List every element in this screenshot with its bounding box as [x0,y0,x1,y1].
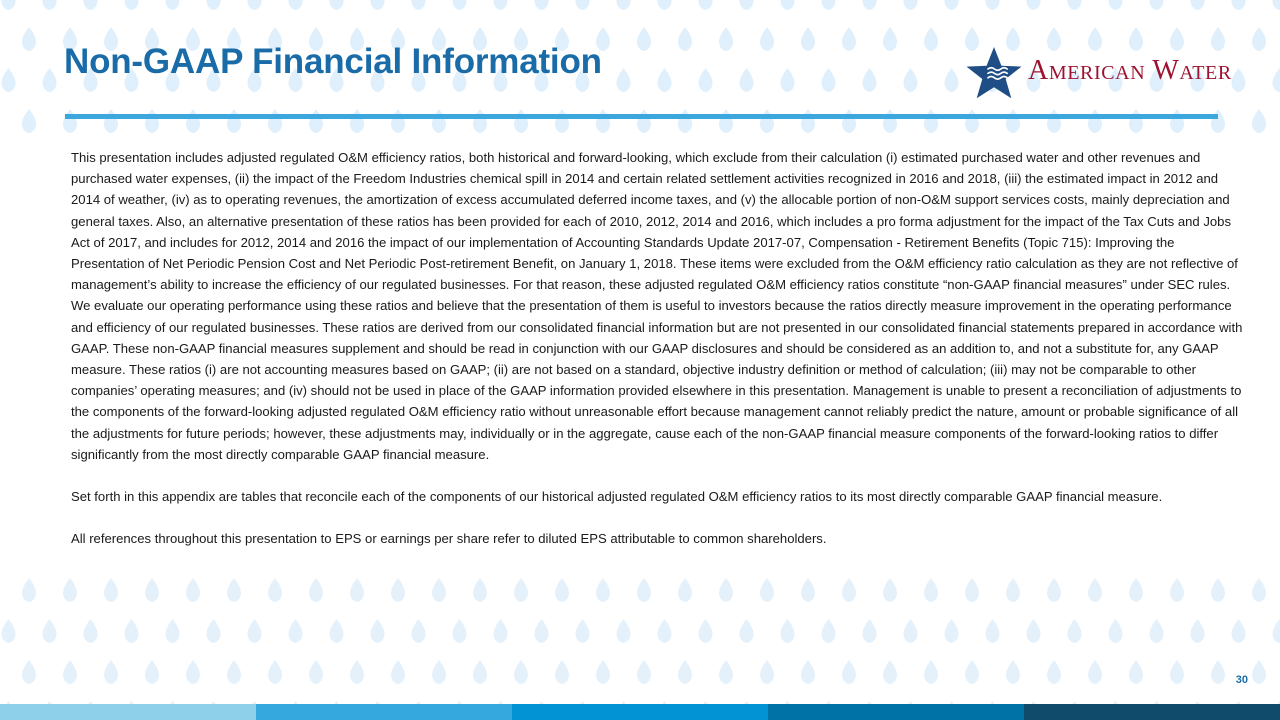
water-drop-icon [1046,660,1063,684]
water-drop-icon [1005,578,1022,602]
page-number: 30 [1236,674,1248,686]
water-drop-icon [615,68,632,92]
water-drop-icon [267,578,284,602]
footer-color-bar [0,704,1280,720]
water-drop-icon [123,619,140,643]
water-drop-icon [82,619,99,643]
water-drop-icon [943,0,960,10]
water-drop-icon [1271,68,1280,92]
water-drop-icon [1107,0,1124,10]
water-drop-icon [759,578,776,602]
water-drop-icon [1066,619,1083,643]
body-content: This presentation includes adjusted regu… [71,147,1244,549]
water-drop-icon [800,109,817,133]
water-drop-icon [472,578,489,602]
water-drop-icon [861,619,878,643]
water-drop-icon [697,619,714,643]
water-drop-icon [902,0,919,10]
water-drop-icon [882,109,899,133]
logo-wordmark: American Water [1028,55,1232,87]
water-drop-icon [841,660,858,684]
water-drop-icon [205,619,222,643]
water-drop-icon [1271,619,1280,643]
water-drop-icon [1025,0,1042,10]
water-drop-icon [697,68,714,92]
water-drop-icon [103,578,120,602]
water-drop-icon [656,68,673,92]
water-drop-icon [1169,109,1186,133]
water-drop-icon [861,68,878,92]
water-drop-icon [205,0,222,10]
water-drop-icon [328,0,345,10]
water-drop-icon [800,578,817,602]
water-drop-icon [554,109,571,133]
water-drop-icon [738,0,755,10]
water-drop-icon [595,109,612,133]
water-drop-icon [718,578,735,602]
water-drop-icon [144,660,161,684]
water-drop-icon [82,0,99,10]
water-drop-icon [1128,578,1145,602]
water-drop-icon [185,109,202,133]
water-drop-icon [103,109,120,133]
water-drop-icon [595,660,612,684]
water-drop-icon [636,109,653,133]
water-drop-icon [1107,619,1124,643]
water-drop-icon [390,660,407,684]
footer-bar-segment-5 [1024,704,1280,720]
water-drop-icon [164,619,181,643]
water-drop-icon [738,619,755,643]
water-drop-icon [1271,0,1280,10]
water-drop-icon [677,660,694,684]
water-drop-icon [1189,0,1206,10]
water-drop-icon [636,660,653,684]
water-drop-icon [984,619,1001,643]
water-drop-icon [964,578,981,602]
water-drop-icon [1025,619,1042,643]
water-drop-icon [574,619,591,643]
water-drop-icon [390,109,407,133]
water-drop-icon [1210,109,1227,133]
water-drop-icon [513,109,530,133]
paragraph-appendix: Set forth in this appendix are tables th… [71,486,1244,507]
water-drop-icon [246,0,263,10]
water-drop-icon [1087,660,1104,684]
water-drop-icon [349,660,366,684]
water-drop-icon [1169,660,1186,684]
water-drop-icon [656,0,673,10]
water-drop-icon [21,109,38,133]
water-drop-icon [1005,109,1022,133]
water-drop-icon [0,619,17,643]
water-drop-icon [882,660,899,684]
footer-bar-segment-1 [0,704,256,720]
water-drop-icon [1251,660,1268,684]
water-drop-icon [103,660,120,684]
water-drop-icon [226,578,243,602]
water-drop-icon [492,619,509,643]
water-drop-icon [1046,578,1063,602]
water-drop-icon [0,0,17,10]
water-drop-icon [62,660,79,684]
water-drop-icon [1148,619,1165,643]
water-drop-icon [964,660,981,684]
water-drop-icon [513,578,530,602]
water-drop-icon [472,109,489,133]
water-drop-icon [943,619,960,643]
paragraph-spacer [71,507,1244,528]
water-drop-icon [390,578,407,602]
water-drop-icon [308,109,325,133]
water-drop-icon [451,0,468,10]
water-drop-icon [902,68,919,92]
water-drop-icon [923,27,940,51]
water-drop-icon [779,619,796,643]
water-drop-icon [1087,109,1104,133]
water-drop-icon [533,0,550,10]
paragraph-disclosure: This presentation includes adjusted regu… [71,147,1244,465]
water-drop-icon [349,109,366,133]
water-drop-icon [574,0,591,10]
water-drop-icon [1230,0,1247,10]
water-drop-icon [882,578,899,602]
water-drop-icon [431,578,448,602]
water-drop-icon [1066,0,1083,10]
water-drop-icon [369,619,386,643]
water-drop-icon [164,0,181,10]
water-drop-icon [984,0,1001,10]
water-drop-icon [718,109,735,133]
water-drop-icon [554,578,571,602]
water-drop-icon [246,619,263,643]
water-drop-icon [410,0,427,10]
water-drop-icon [1210,660,1227,684]
water-drop-icon [554,660,571,684]
water-drop-icon [62,109,79,133]
water-drop-icon [759,660,776,684]
water-drop-icon [533,619,550,643]
water-drop-icon [779,0,796,10]
water-drop-icon [923,578,940,602]
water-drop-icon [513,660,530,684]
water-drop-icon [800,27,817,51]
water-drop-icon [21,578,38,602]
water-drop-icon [923,109,940,133]
water-drop-icon [759,27,776,51]
water-drop-icon [1230,68,1247,92]
water-drop-icon [861,0,878,10]
water-drop-icon [41,619,58,643]
water-drop-icon [1251,27,1268,51]
water-drop-icon [841,109,858,133]
water-drop-icon [1210,578,1227,602]
water-drop-icon [21,27,38,51]
water-drop-icon [820,0,837,10]
water-drop-icon [472,660,489,684]
water-drop-icon [615,619,632,643]
water-drop-icon [1230,619,1247,643]
page-title: Non-GAAP Financial Information [64,42,602,82]
water-drop-icon [226,109,243,133]
water-drop-icon [308,660,325,684]
water-drop-icon [656,619,673,643]
water-drop-icon [0,68,17,92]
water-drop-icon [308,578,325,602]
water-drop-icon [144,578,161,602]
water-drop-icon [369,0,386,10]
water-drop-icon [431,109,448,133]
water-drop-icon [267,660,284,684]
water-drop-icon [267,109,284,133]
water-drop-icon [820,68,837,92]
water-drop-icon [1005,660,1022,684]
water-drop-icon [902,619,919,643]
footer-bar-segment-2 [256,704,512,720]
water-drop-icon [21,660,38,684]
water-drop-icon [1189,619,1206,643]
water-drop-icon [492,0,509,10]
water-drop-icon [1148,0,1165,10]
water-drop-icon [185,578,202,602]
water-drop-icon [636,578,653,602]
water-drop-icon [1169,578,1186,602]
water-drop-icon [1046,109,1063,133]
water-drop-icon [1128,109,1145,133]
water-drop-icon [410,619,427,643]
title-divider-rule [65,114,1218,119]
paragraph-spacer [71,465,1244,486]
water-drop-icon [287,619,304,643]
water-drop-icon [1087,578,1104,602]
water-drop-icon [677,27,694,51]
water-drop-icon [677,578,694,602]
water-drop-icon [1128,660,1145,684]
water-drop-icon [636,27,653,51]
water-droplet-pattern-bottom [0,592,1280,704]
water-drop-icon [923,660,940,684]
star-icon [966,46,1022,100]
water-drop-icon [841,578,858,602]
water-drop-icon [62,578,79,602]
water-drop-icon [718,27,735,51]
slide-canvas: Non-GAAP Financial Information American … [0,0,1280,720]
water-drop-icon [964,109,981,133]
water-drop-icon [718,660,735,684]
footer-bar-segment-3 [512,704,768,720]
water-drop-icon [41,0,58,10]
american-water-logo: American Water [966,44,1218,102]
water-drop-icon [697,0,714,10]
water-drop-icon [328,619,345,643]
water-drop-icon [287,0,304,10]
paragraph-eps: All references throughout this presentat… [71,528,1244,549]
water-drop-icon [595,578,612,602]
water-drop-icon [943,68,960,92]
water-drop-icon [738,68,755,92]
water-drop-icon [144,109,161,133]
water-drop-icon [349,578,366,602]
water-drop-icon [431,660,448,684]
water-drop-icon [882,27,899,51]
water-drop-icon [841,27,858,51]
water-drop-icon [615,0,632,10]
water-drop-icon [759,109,776,133]
footer-bar-segment-4 [768,704,1024,720]
water-drop-icon [1251,109,1268,133]
water-drop-icon [123,0,140,10]
water-drop-icon [820,619,837,643]
water-drop-icon [779,68,796,92]
water-drop-icon [226,660,243,684]
water-drop-icon [677,109,694,133]
water-drop-icon [41,68,58,92]
water-drop-icon [185,660,202,684]
water-drop-icon [800,660,817,684]
water-drop-icon [451,619,468,643]
water-drop-icon [1251,578,1268,602]
